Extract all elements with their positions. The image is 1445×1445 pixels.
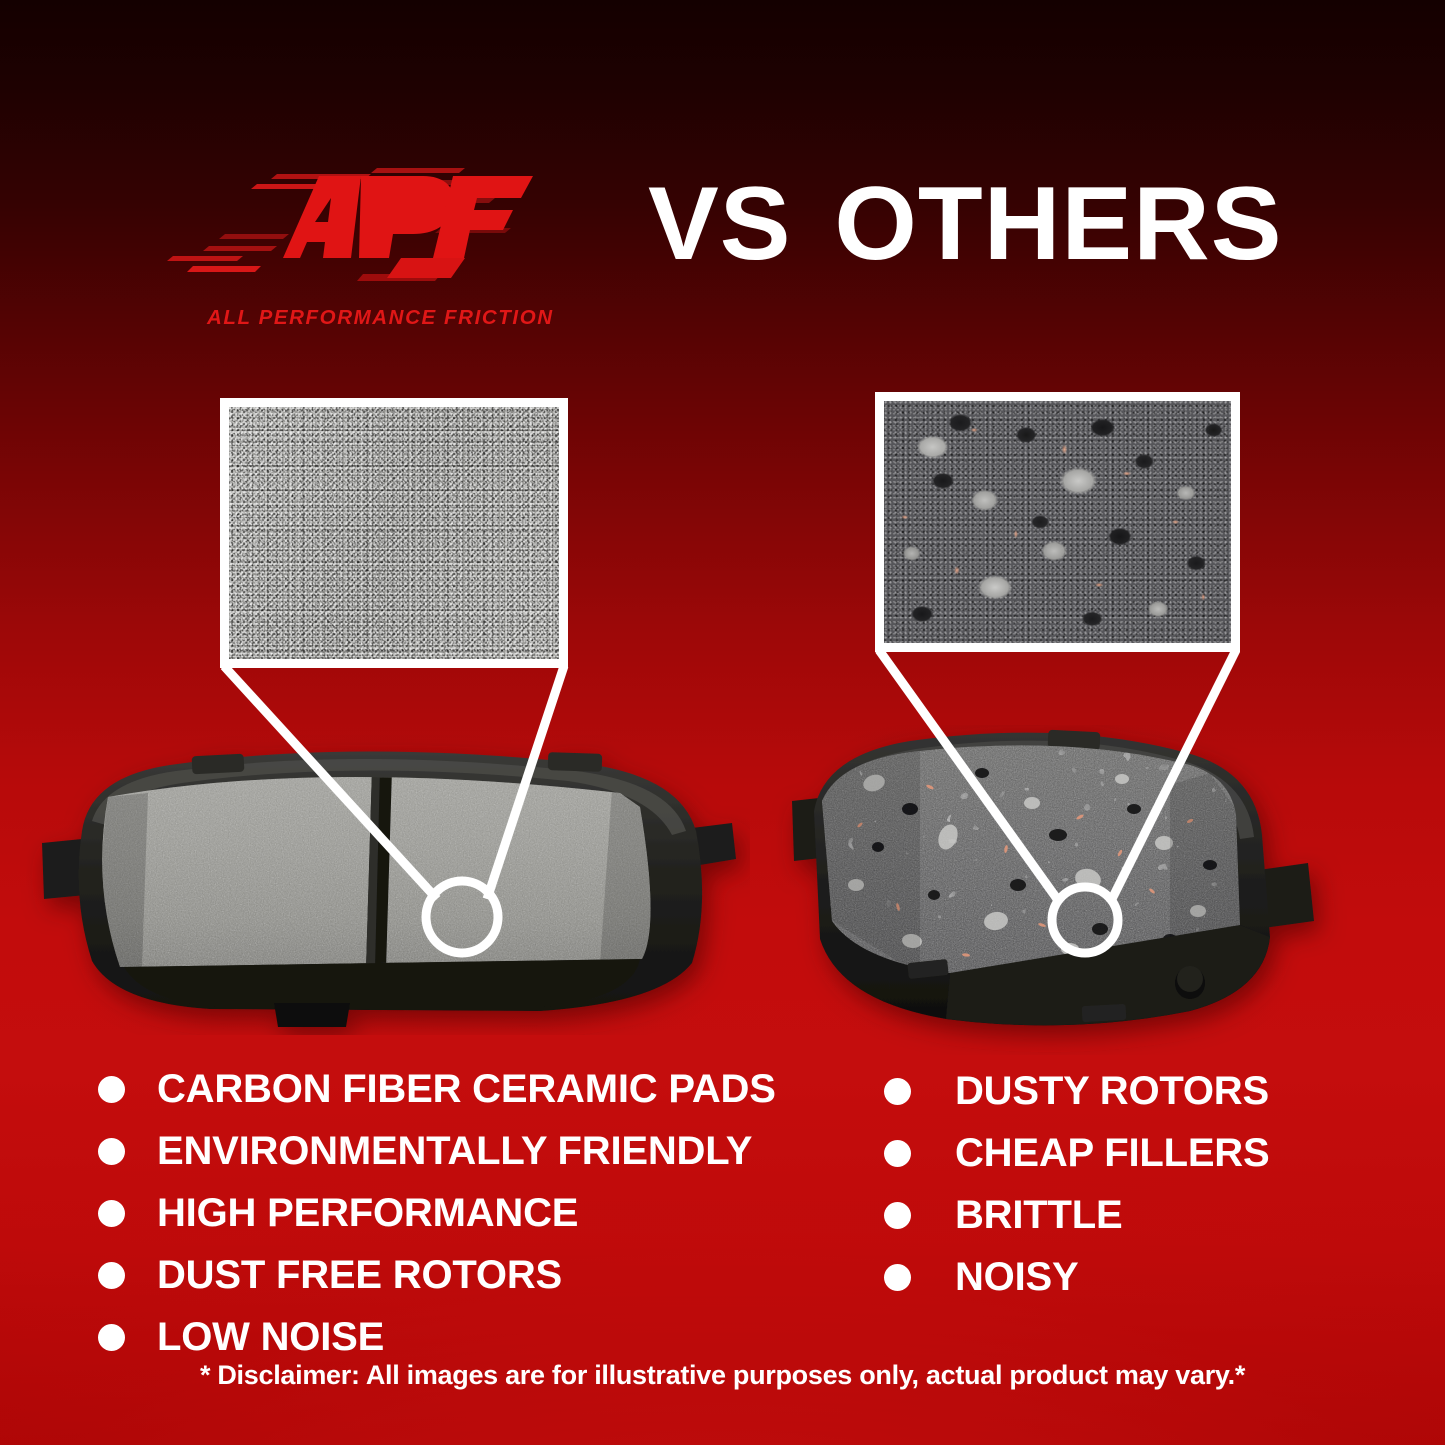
bullet-icon (884, 1264, 911, 1291)
apf-texture-panel (220, 398, 568, 668)
bullet-icon (98, 1324, 125, 1351)
list-item: DUSTY ROTORS (884, 1060, 1354, 1122)
list-item: BRITTLE (884, 1184, 1354, 1246)
apf-wordmark-icon (165, 158, 565, 298)
vs-label: VS (648, 166, 792, 282)
list-item: CARBON FIBER CERAMIC PADS (98, 1058, 818, 1120)
bullet-icon (98, 1200, 125, 1227)
page-title: VSOTHERS (648, 172, 1283, 276)
list-item: ENVIRONMENTALLY FRIENDLY (98, 1120, 818, 1182)
infographic-canvas: ALL PERFORMANCE FRICTION VSOTHERS (0, 0, 1445, 1445)
bullet-icon (98, 1262, 125, 1289)
bullet-icon (884, 1140, 911, 1167)
others-label: OTHERS (834, 166, 1282, 282)
apf-logo: ALL PERFORMANCE FRICTION (165, 158, 565, 348)
list-item: LOW NOISE (98, 1306, 818, 1368)
list-item: HIGH PERFORMANCE (98, 1182, 818, 1244)
disclaimer-text: * Disclaimer: All images are for illustr… (0, 1360, 1445, 1391)
feature-label: LOW NOISE (157, 1317, 384, 1357)
others-texture-panel (875, 392, 1240, 652)
feature-label: DUSTY ROTORS (955, 1071, 1269, 1111)
list-item: NOISY (884, 1246, 1354, 1308)
others-feature-list: DUSTY ROTORS CHEAP FILLERS BRITTLE NOISY (884, 1060, 1354, 1308)
feature-label: ENVIRONMENTALLY FRIENDLY (157, 1131, 752, 1171)
apf-brake-pad-image (20, 735, 750, 1035)
apf-friction-texture-image (229, 407, 559, 659)
others-friction-texture-image (884, 401, 1231, 643)
bullet-icon (98, 1076, 125, 1103)
list-item: DUST FREE ROTORS (98, 1244, 818, 1306)
feature-label: NOISY (955, 1257, 1078, 1297)
feature-label: BRITTLE (955, 1195, 1122, 1235)
bullet-icon (98, 1138, 125, 1165)
header: ALL PERFORMANCE FRICTION VSOTHERS (0, 140, 1445, 350)
bullet-icon (884, 1202, 911, 1229)
logo-tagline: ALL PERFORMANCE FRICTION (207, 306, 554, 330)
feature-label: HIGH PERFORMANCE (157, 1193, 578, 1233)
list-item: CHEAP FILLERS (884, 1122, 1354, 1184)
competitor-brake-pad-image (770, 725, 1350, 1055)
feature-label: DUST FREE ROTORS (157, 1255, 562, 1295)
feature-label: CHEAP FILLERS (955, 1133, 1269, 1173)
apf-feature-list: CARBON FIBER CERAMIC PADS ENVIRONMENTALL… (98, 1058, 818, 1368)
feature-label: CARBON FIBER CERAMIC PADS (157, 1069, 776, 1109)
bullet-icon (884, 1078, 911, 1105)
